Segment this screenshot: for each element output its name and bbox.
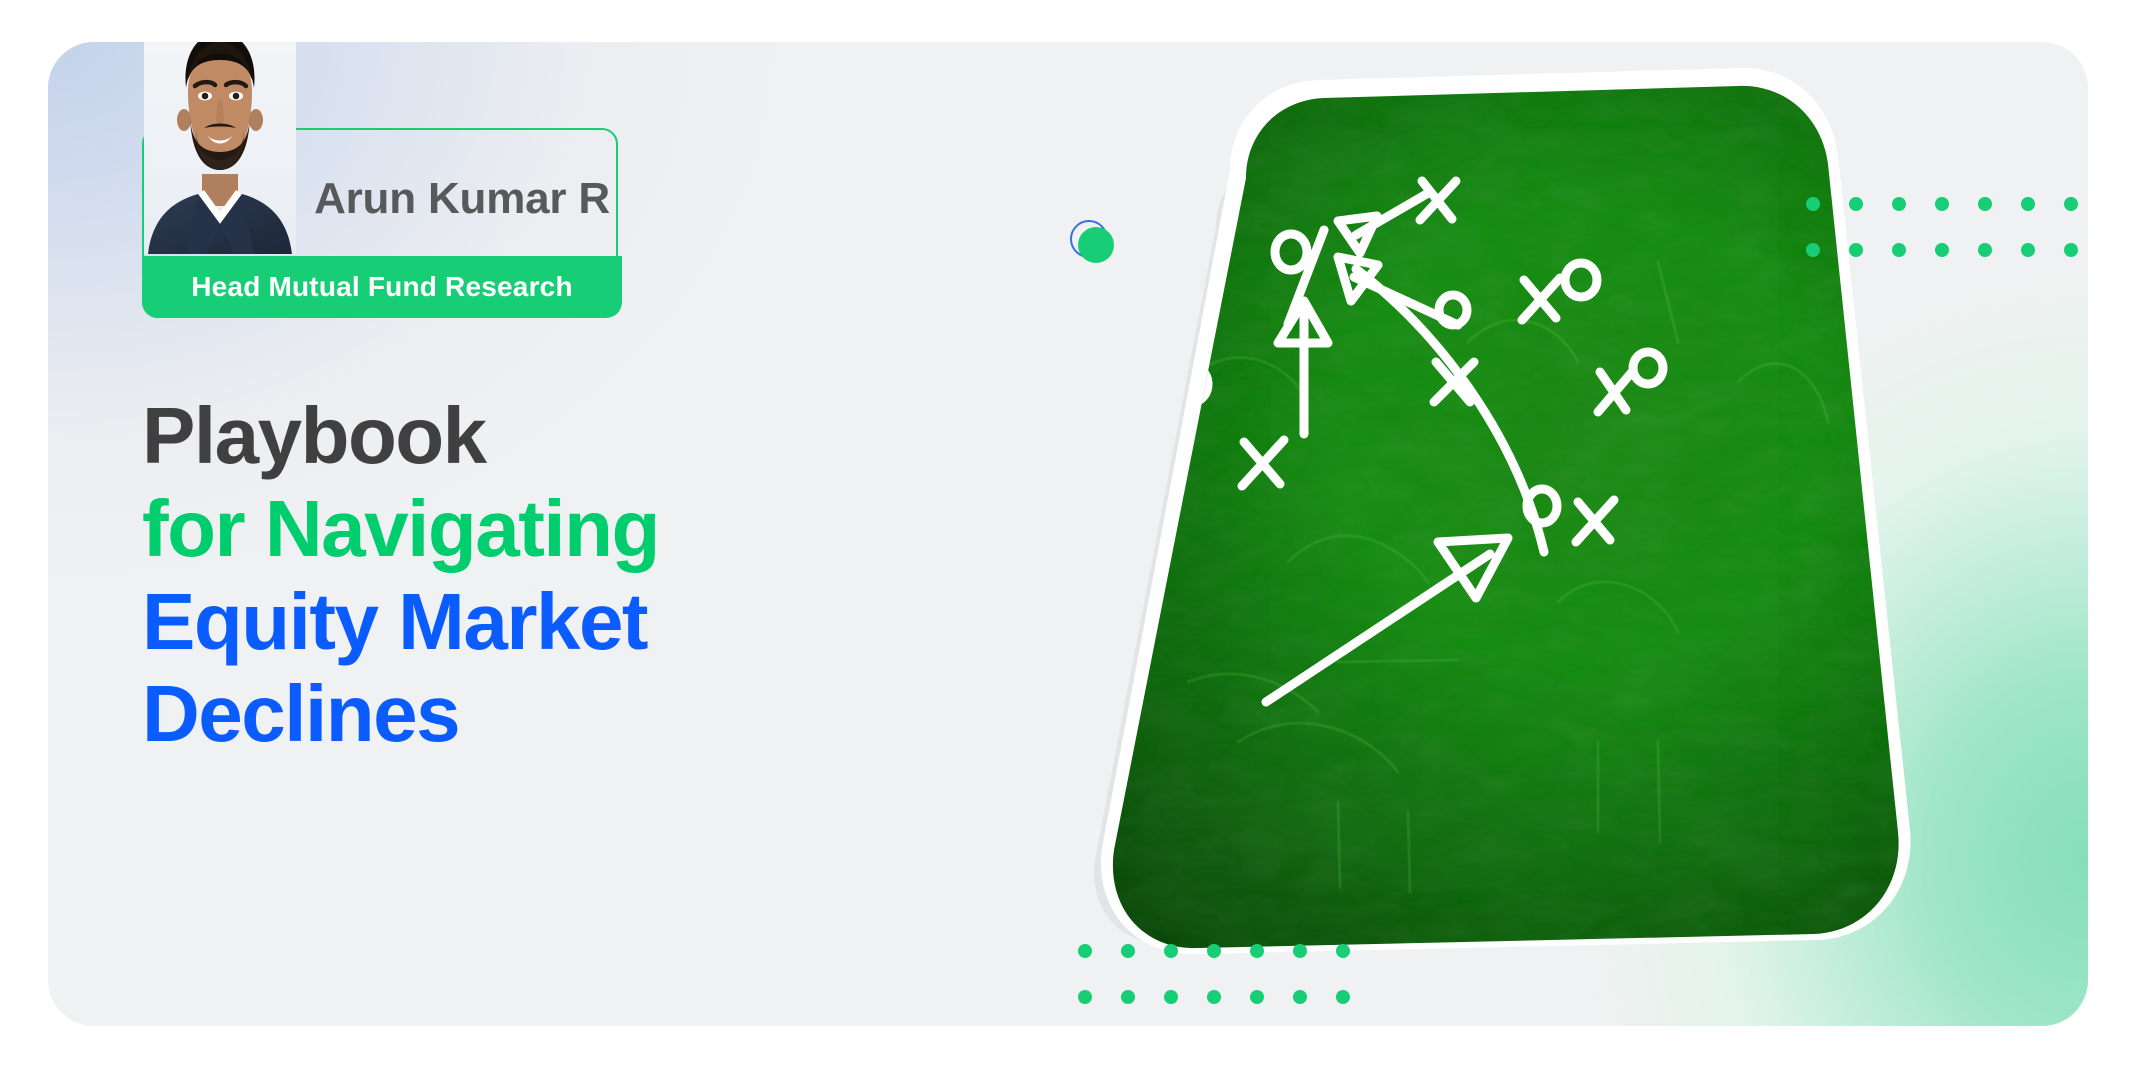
grid-dot bbox=[1207, 944, 1221, 958]
grid-dot bbox=[1250, 944, 1264, 958]
grid-dot bbox=[2021, 243, 2035, 257]
grid-dot bbox=[1164, 990, 1178, 1004]
grid-dot bbox=[1207, 990, 1221, 1004]
grid-dot bbox=[1935, 243, 1949, 257]
grid-dot bbox=[1806, 243, 1820, 257]
page-title: Playbook for Navigating Equity Market De… bbox=[142, 390, 1002, 761]
grid-dot bbox=[1293, 944, 1307, 958]
grid-dot bbox=[1293, 990, 1307, 1004]
grid-dot bbox=[1806, 197, 1820, 211]
speaker-name: Arun Kumar R bbox=[304, 130, 620, 268]
accent-dot bbox=[1070, 220, 1118, 268]
grid-dot bbox=[1250, 990, 1264, 1004]
grid-dot bbox=[1935, 197, 1949, 211]
board-surface bbox=[1038, 42, 2088, 1026]
hero-card: Arun Kumar R Head Mutual Fund Research P… bbox=[48, 42, 2088, 1026]
content-column: Arun Kumar R Head Mutual Fund Research P… bbox=[142, 88, 1002, 761]
title-line-4: Declines bbox=[142, 668, 1002, 761]
grid-dot bbox=[1336, 990, 1350, 1004]
slide-canvas: Arun Kumar R Head Mutual Fund Research P… bbox=[0, 0, 2134, 1068]
grid-dot bbox=[1849, 197, 1863, 211]
title-line-3: Equity Market bbox=[142, 576, 1002, 669]
grid-dot bbox=[2064, 243, 2078, 257]
grid-dot bbox=[1892, 197, 1906, 211]
grid-dot bbox=[1164, 944, 1178, 958]
title-line-2: for Navigating bbox=[142, 483, 1002, 576]
grid-dot bbox=[1849, 243, 1863, 257]
grid-dot bbox=[1078, 990, 1092, 1004]
grid-dot bbox=[2021, 197, 2035, 211]
speaker-card: Arun Kumar R Head Mutual Fund Research bbox=[142, 128, 618, 318]
strategy-chalkboard bbox=[1038, 42, 2088, 1026]
grid-dot bbox=[1121, 944, 1135, 958]
grid-dot bbox=[1336, 944, 1350, 958]
grid-dot bbox=[2064, 197, 2078, 211]
grid-dot bbox=[1978, 243, 1992, 257]
avatar bbox=[144, 42, 296, 254]
title-line-1: Playbook bbox=[142, 390, 1002, 483]
speaker-role-badge: Head Mutual Fund Research bbox=[142, 256, 622, 318]
grid-dot bbox=[1892, 243, 1906, 257]
grid-dot bbox=[1078, 944, 1092, 958]
grid-dot bbox=[1978, 197, 1992, 211]
accent-dot-fill bbox=[1078, 227, 1114, 263]
grid-dot bbox=[1121, 990, 1135, 1004]
